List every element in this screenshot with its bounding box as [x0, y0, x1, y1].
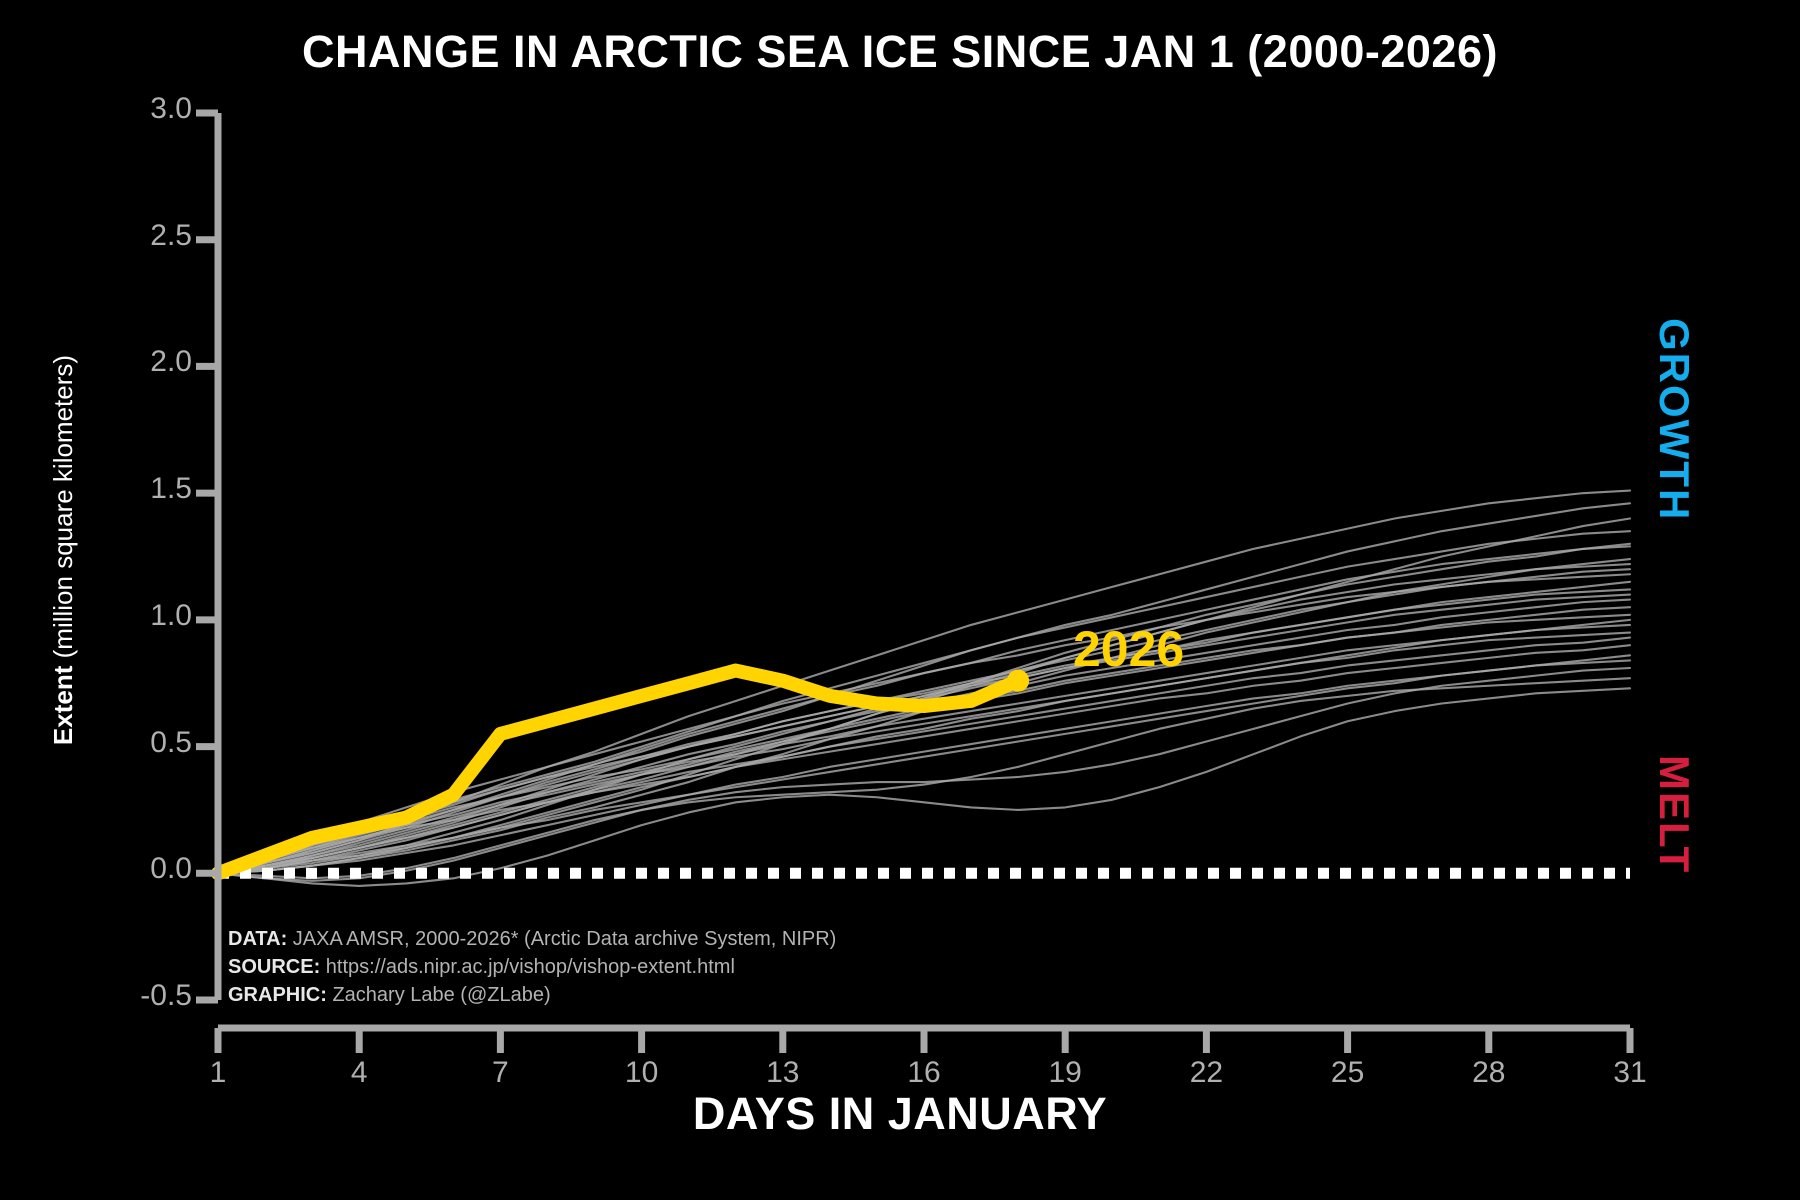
highlight-year-annotation: 2026	[1073, 620, 1184, 678]
x-tick-label: 16	[884, 1056, 964, 1090]
y-axis-title-rest: (million square kilometers)	[48, 355, 78, 666]
credits-graphic-label: GRAPHIC:	[228, 984, 327, 1006]
x-tick-label: 1	[178, 1056, 258, 1090]
credits-data-line: DATA: JAXA AMSR, 2000-2026* (Arctic Data…	[228, 925, 836, 953]
y-axis-title-bold: Extent	[48, 666, 78, 745]
y-tick-label: 1.5	[82, 472, 192, 506]
credits-data-label: DATA:	[228, 928, 287, 950]
highlight-endpoint-marker	[1007, 670, 1029, 692]
credits-source-line: SOURCE: https://ads.nipr.ac.jp/vishop/vi…	[228, 953, 836, 981]
background-series-line	[218, 633, 1630, 874]
growth-annotation: GROWTH	[1648, 318, 1698, 618]
x-tick-label: 4	[319, 1056, 399, 1090]
y-tick-label: 3.0	[82, 92, 192, 126]
y-tick-label: 2.5	[82, 219, 192, 253]
x-tick-label: 25	[1308, 1056, 1388, 1090]
x-tick-label: 31	[1590, 1056, 1670, 1090]
credits-graphic-line: GRAPHIC: Zachary Labe (@ZLabe)	[228, 981, 836, 1009]
y-tick-label: 0.5	[82, 726, 192, 760]
credits-block: DATA: JAXA AMSR, 2000-2026* (Arctic Data…	[228, 925, 836, 1009]
x-tick-label: 22	[1166, 1056, 1246, 1090]
x-tick-label: 7	[460, 1056, 540, 1090]
credits-data-value: JAXA AMSR, 2000-2026* (Arctic Data archi…	[287, 928, 836, 950]
credits-source-value: https://ads.nipr.ac.jp/vishop/vishop-ext…	[320, 956, 735, 978]
background-series-line	[218, 655, 1630, 873]
x-axis-title: DAYS IN JANUARY	[0, 1088, 1800, 1140]
y-tick-label: 1.0	[82, 599, 192, 633]
background-series-line	[218, 569, 1630, 873]
background-series-group	[218, 491, 1630, 886]
x-tick-label: 13	[743, 1056, 823, 1090]
x-tick-label: 10	[602, 1056, 682, 1090]
plot-canvas	[0, 0, 1800, 1200]
melt-annotation: MELT	[1648, 755, 1698, 955]
y-axis-title: Extent (million square kilometers)	[48, 245, 88, 855]
x-tick-label: 19	[1025, 1056, 1105, 1090]
y-tick-label: 2.0	[82, 345, 192, 379]
y-tick-label: 0.0	[82, 852, 192, 886]
credits-source-label: SOURCE:	[228, 956, 320, 978]
chart-figure: CHANGE IN ARCTIC SEA ICE SINCE JAN 1 (20…	[0, 0, 1800, 1200]
y-tick-label: -0.5	[82, 979, 192, 1013]
x-tick-label: 28	[1449, 1056, 1529, 1090]
credits-graphic-value: Zachary Labe (@ZLabe)	[327, 984, 551, 1006]
